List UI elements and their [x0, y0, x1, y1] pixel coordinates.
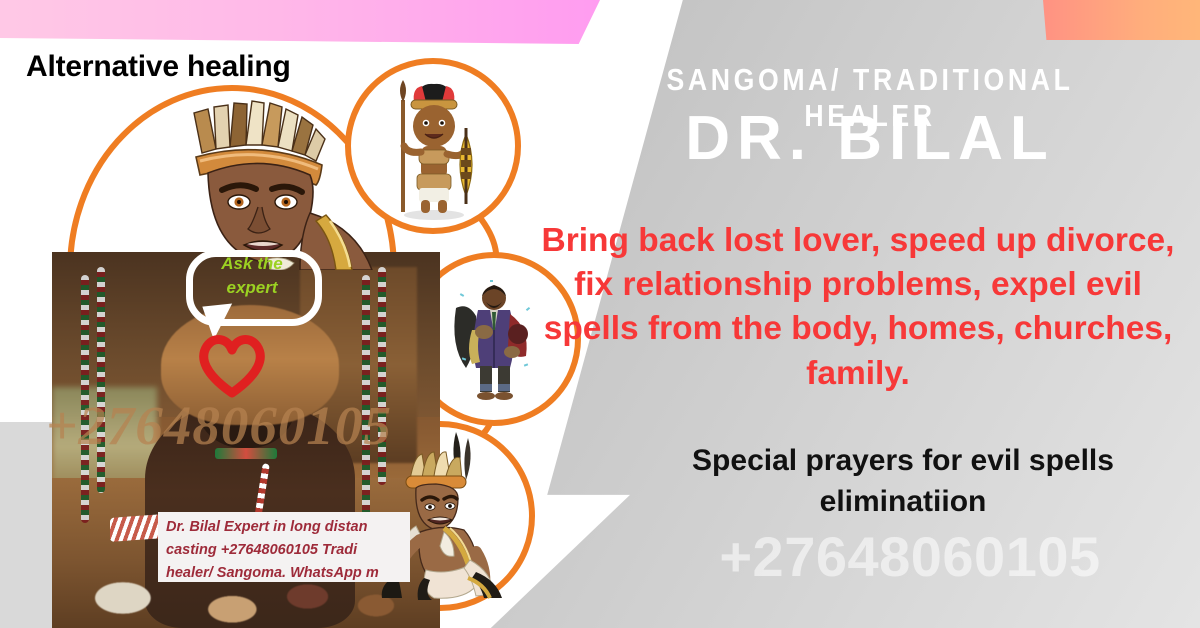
photo-caption-box: Dr. Bilal Expert in long distan casting … — [158, 512, 410, 582]
poster-canvas: Alternative healing — [0, 0, 1200, 628]
healer-portrait-illustration — [150, 95, 380, 270]
speech-bubble-label: Ask the expert — [196, 252, 308, 300]
top-salmon-strip — [1043, 0, 1200, 40]
zulu-warrior-illustration — [378, 72, 490, 222]
diviner-illustration — [448, 272, 542, 404]
caption-line-1: Dr. Bilal Expert in long distan — [166, 516, 402, 539]
heart-icon — [195, 330, 269, 398]
photo-bead-strand — [97, 267, 105, 493]
top-pink-strip — [0, 0, 600, 44]
services-text: Bring back lost lover, speed up divorce,… — [538, 219, 1178, 396]
special-prayers-text: Special prayers for evil spells eliminat… — [614, 440, 1192, 523]
caption-line-3: healer/ Sangoma. WhatsApp m — [166, 562, 402, 582]
photo-phone-watermark: +27648060105 — [46, 394, 392, 457]
page-title: Alternative healing — [26, 50, 291, 84]
phone-watermark: +27648060105 — [630, 524, 1190, 589]
caption-line-2: casting +27648060105 Tradi — [166, 539, 402, 562]
healer-name: DR. BILAL — [560, 103, 1180, 174]
